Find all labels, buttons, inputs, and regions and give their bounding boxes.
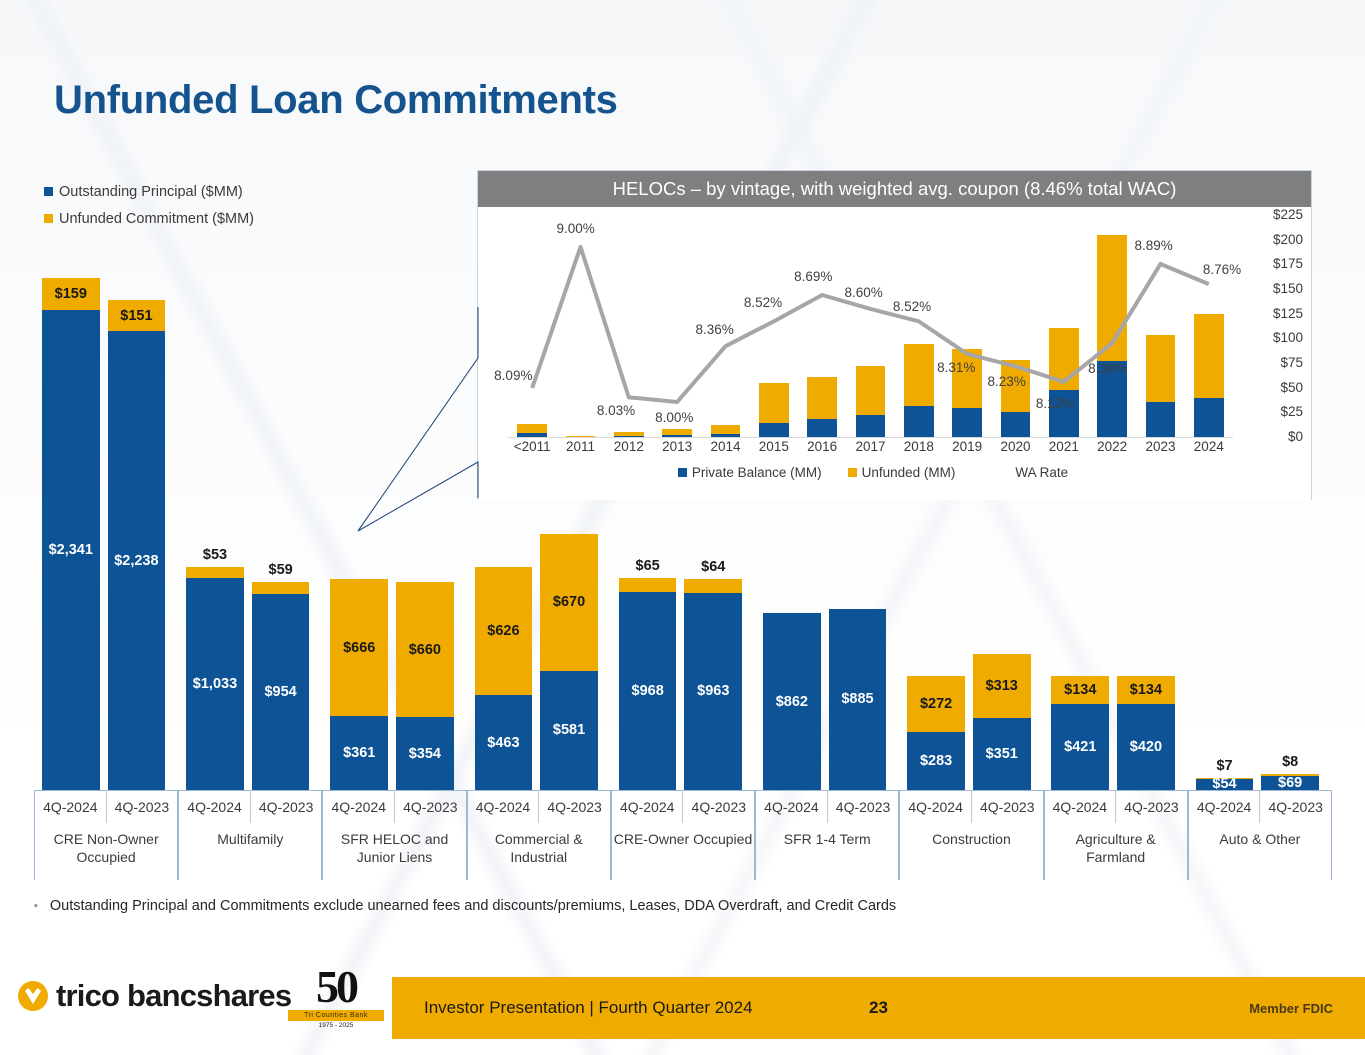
anniversary-years: 1975 - 2025	[288, 1022, 384, 1029]
wa-rate-label: 8.69%	[794, 269, 832, 284]
heloc-y-tick: $50	[1280, 380, 1303, 395]
heloc-x-tick: 2017	[846, 439, 894, 454]
wa-rate-label: 8.52%	[893, 299, 931, 314]
bar-label-outstanding: $361	[343, 745, 375, 761]
wa-rate-label: 8.60%	[845, 285, 883, 300]
stacked-bar[interactable]: $313$351	[973, 654, 1031, 790]
slide-footer: trico bancshares 50 Tri Counties Bank 19…	[0, 960, 1365, 1055]
bar-label-unfunded: $134	[1064, 682, 1096, 698]
footer-bar: Investor Presentation | Fourth Quarter 2…	[392, 977, 1365, 1039]
slide-root: Unfunded Loan Commitments Outstanding Pr…	[0, 0, 1365, 1055]
footer-page-number: 23	[392, 998, 1365, 1018]
bar-label-unfunded: $159	[55, 286, 87, 302]
bar-segment-unfunded: $134	[1117, 676, 1175, 703]
bar-label-outstanding: $1,033	[193, 676, 237, 692]
axis-period-label: 4Q-2024	[756, 791, 828, 823]
bar-label-unfunded: $8	[1261, 754, 1319, 770]
stacked-bar[interactable]: $862	[763, 613, 821, 790]
wa-rate-label: 8.36%	[696, 322, 734, 337]
bar-segment-unfunded: $313	[973, 654, 1031, 718]
bar-segment-unfunded: $134	[1051, 676, 1109, 703]
bar-segment-outstanding: $1,033	[186, 578, 244, 790]
wa-rate-label: 8.09%	[494, 368, 532, 383]
wa-rate-label: 8.13%	[1036, 396, 1074, 411]
heloc-y-tick: $125	[1273, 306, 1303, 321]
heloc-legend-label-private: Private Balance (MM)	[692, 465, 822, 480]
stacked-bar[interactable]: $626$463	[475, 567, 533, 790]
bar-label-unfunded: $65	[619, 558, 677, 574]
stacked-bar[interactable]: $151$2,238	[108, 300, 166, 790]
bar-label-outstanding: $954	[264, 684, 296, 700]
heloc-x-tick: 2012	[605, 439, 653, 454]
bar-label-outstanding: $69	[1278, 775, 1302, 791]
axis-category-label: Auto & Other	[1189, 823, 1331, 881]
stacked-bar[interactable]: $8$69	[1261, 774, 1319, 790]
wa-rate-label: 8.52%	[744, 295, 782, 310]
bar-segment-outstanding: $54	[1196, 779, 1254, 790]
anniversary-badge: 50 Tri Counties Bank 1975 - 2025	[288, 965, 384, 1043]
bar-label-outstanding: $2,341	[49, 542, 93, 558]
axis-category-label: Construction	[900, 823, 1042, 881]
bar-label-unfunded: $313	[986, 678, 1018, 694]
heloc-legend: Private Balance (MM) Unfunded (MM) WA Ra…	[478, 465, 1268, 480]
axis-group-6: 4Q-20244Q-2023SFR 1-4 Term	[755, 790, 899, 880]
stacked-bar[interactable]: $134$421	[1051, 676, 1109, 790]
bar-label-unfunded: $64	[684, 559, 742, 575]
heloc-x-tick: 2022	[1088, 439, 1136, 454]
heloc-x-tick: 2018	[895, 439, 943, 454]
stacked-bar[interactable]: $670$581	[540, 534, 598, 790]
axis-period-label: 4Q-2024	[1045, 791, 1117, 823]
axis-group-8: 4Q-20244Q-2023Agriculture & Farmland	[1044, 790, 1188, 880]
heloc-vintage-panel: HELOCs – by vintage, with weighted avg. …	[477, 170, 1312, 500]
heloc-x-tick: 2019	[943, 439, 991, 454]
footnote-bullet-icon: ▪	[34, 898, 38, 915]
company-logo-text: trico bancshares	[56, 978, 291, 1014]
axis-period-label: 4Q-2023	[1260, 791, 1331, 823]
heloc-x-tick: 2024	[1185, 439, 1233, 454]
axis-period-label: 4Q-2024	[323, 791, 395, 823]
axis-period-label: 4Q-2024	[179, 791, 251, 823]
bar-label-unfunded: $670	[553, 594, 585, 610]
bar-label-unfunded: $7	[1196, 758, 1254, 774]
axis-period-label: 4Q-2024	[468, 791, 540, 823]
stacked-bar[interactable]: $660$354	[396, 582, 454, 790]
bar-segment-outstanding: $463	[475, 695, 533, 790]
bar-label-unfunded: $660	[409, 642, 441, 658]
bar-segment-outstanding: $69	[1261, 776, 1319, 790]
bar-segment-unfunded: $272	[907, 676, 965, 732]
stacked-bar[interactable]: $59$954	[252, 582, 310, 790]
stacked-bar[interactable]: $134$420	[1117, 676, 1175, 790]
heloc-x-tick: 2023	[1136, 439, 1184, 454]
anniversary-number: 50	[288, 965, 384, 1009]
heloc-x-tick: 2015	[750, 439, 798, 454]
bar-segment-outstanding: $954	[252, 594, 310, 790]
company-logo: trico bancshares	[18, 978, 291, 1014]
stacked-bar[interactable]: $159$2,341	[42, 278, 100, 790]
footnote-text: Outstanding Principal and Commitments ex…	[50, 898, 896, 914]
axis-category-label: CRE Non-Owner Occupied	[35, 823, 177, 881]
axis-period-label: 4Q-2023	[107, 791, 178, 823]
trico-flower-icon	[18, 981, 48, 1011]
heloc-x-tick: 2021	[1040, 439, 1088, 454]
bar-segment-unfunded: $64	[684, 579, 742, 592]
bar-label-outstanding: $351	[986, 746, 1018, 762]
legend-swatch-blue	[44, 187, 53, 196]
heloc-y-tick: $175	[1273, 256, 1303, 271]
axis-period-label: 4Q-2023	[1116, 791, 1187, 823]
axis-group-5: 4Q-20244Q-2023CRE-Owner Occupied	[611, 790, 755, 880]
bar-segment-outstanding: $351	[973, 718, 1031, 790]
axis-category-label: SFR HELOC and Junior Liens	[323, 823, 465, 881]
stacked-bar[interactable]: $885	[829, 609, 887, 790]
axis-category-label: Commercial & Industrial	[468, 823, 610, 881]
axis-group-4: 4Q-20244Q-2023Commercial & Industrial	[467, 790, 611, 880]
heloc-x-tick: 2011	[556, 439, 604, 454]
heloc-y-tick: $25	[1280, 404, 1303, 419]
heloc-x-tick: 2014	[701, 439, 749, 454]
heloc-panel-body: 8.09%9.00%8.03%8.00%8.36%8.52%8.69%8.60%…	[478, 207, 1311, 500]
bar-segment-outstanding: $581	[540, 671, 598, 790]
heloc-y-axis: $0$25$50$75$100$125$150$175$200$225	[1243, 207, 1303, 445]
bar-label-outstanding: $968	[632, 683, 664, 699]
axis-period-label: 4Q-2024	[612, 791, 684, 823]
axis-period-label: 4Q-2023	[251, 791, 322, 823]
heloc-legend-label-warate: WA Rate	[1015, 465, 1068, 480]
bar-segment-unfunded: $670	[540, 534, 598, 671]
heloc-x-tick: 2020	[991, 439, 1039, 454]
bar-segment-unfunded: $626	[475, 567, 533, 695]
bar-segment-outstanding: $885	[829, 609, 887, 790]
bar-label-outstanding: $283	[920, 753, 952, 769]
heloc-x-tick: 2016	[798, 439, 846, 454]
bar-segment-unfunded: $151	[108, 300, 166, 331]
bar-segment-outstanding: $2,341	[42, 310, 100, 790]
axis-period-label: 4Q-2024	[900, 791, 972, 823]
bar-segment-outstanding: $354	[396, 717, 454, 790]
bar-label-unfunded: $626	[487, 623, 519, 639]
heloc-legend-label-unfunded: Unfunded (MM)	[862, 465, 956, 480]
axis-group-1: 4Q-20244Q-2023CRE Non-Owner Occupied	[34, 790, 178, 880]
axis-category-label: CRE-Owner Occupied	[612, 823, 754, 881]
bar-label-unfunded: $134	[1130, 682, 1162, 698]
wa-rate-label: 8.03%	[597, 403, 635, 418]
heloc-y-tick: $200	[1273, 232, 1303, 247]
bar-segment-outstanding: $2,238	[108, 331, 166, 790]
heloc-baseline	[508, 437, 1233, 438]
heloc-y-tick: $75	[1280, 355, 1303, 370]
stacked-bar[interactable]: $65$968	[619, 578, 677, 790]
bar-label-outstanding: $885	[841, 691, 873, 707]
bar-segment-unfunded: $159	[42, 278, 100, 311]
axis-period-label: 4Q-2023	[972, 791, 1043, 823]
bar-group: $666$361$660$354	[322, 215, 466, 790]
bar-segment-unfunded: $59	[252, 582, 310, 594]
bar-segment-outstanding: $421	[1051, 704, 1109, 790]
heloc-x-axis: <201120112012201320142015201620172018201…	[508, 439, 1233, 461]
bar-segment-unfunded: $53	[186, 567, 244, 578]
bar-label-unfunded: $59	[252, 562, 310, 578]
stacked-bar[interactable]: $272$283	[907, 676, 965, 790]
heloc-plot-area: 8.09%9.00%8.03%8.00%8.36%8.52%8.69%8.60%…	[508, 215, 1233, 437]
wa-rate-label: 8.76%	[1203, 262, 1241, 277]
heloc-y-tick: $100	[1273, 330, 1303, 345]
axis-period-label: 4Q-2023	[683, 791, 754, 823]
main-chart-axis: 4Q-20244Q-2023CRE Non-Owner Occupied4Q-2…	[34, 790, 1332, 880]
wa-rate-label: 8.38%	[1088, 361, 1126, 376]
bar-segment-outstanding: $283	[907, 732, 965, 790]
stacked-bar[interactable]: $7$54	[1196, 778, 1254, 790]
stacked-bar[interactable]: $53$1,033	[186, 567, 244, 790]
footnote: ▪ Outstanding Principal and Commitments …	[34, 898, 896, 915]
axis-period-label: 4Q-2023	[395, 791, 466, 823]
bar-label-unfunded: $53	[186, 547, 244, 563]
bar-label-outstanding: $581	[553, 722, 585, 738]
bar-segment-unfunded: $666	[330, 579, 388, 716]
heloc-y-tick: $0	[1288, 429, 1303, 444]
bar-label-unfunded: $272	[920, 696, 952, 712]
bar-segment-unfunded: $65	[619, 578, 677, 591]
axis-group-7: 4Q-20244Q-2023Construction	[899, 790, 1043, 880]
bar-label-outstanding: $463	[487, 735, 519, 751]
bar-segment-outstanding: $963	[684, 593, 742, 790]
bar-label-outstanding: $354	[409, 746, 441, 762]
stacked-bar[interactable]: $64$963	[684, 579, 742, 790]
wa-rate-label: 8.00%	[655, 410, 693, 425]
bar-segment-unfunded: $660	[396, 582, 454, 717]
heloc-y-tick: $150	[1273, 281, 1303, 296]
bar-segment-outstanding: $361	[330, 716, 388, 790]
axis-period-label: 4Q-2024	[1189, 791, 1261, 823]
bar-label-unfunded: $151	[120, 308, 152, 324]
wa-rate-label: 8.31%	[937, 360, 975, 375]
heloc-swatch-blue	[678, 468, 687, 477]
bar-label-outstanding: $421	[1064, 739, 1096, 755]
axis-period-label: 4Q-2023	[539, 791, 610, 823]
bar-segment-outstanding: $862	[763, 613, 821, 790]
axis-category-label: SFR 1-4 Term	[756, 823, 898, 881]
axis-period-label: 4Q-2023	[828, 791, 899, 823]
heloc-x-tick: 2013	[653, 439, 701, 454]
bar-group: $53$1,033$59$954	[178, 215, 322, 790]
axis-category-label: Multifamily	[179, 823, 321, 881]
bar-label-outstanding: $963	[697, 683, 729, 699]
bar-group: $159$2,341$151$2,238	[34, 215, 178, 790]
heloc-legend-unfunded: Unfunded (MM)	[848, 465, 956, 480]
heloc-panel-title: HELOCs – by vintage, with weighted avg. …	[478, 171, 1311, 207]
wa-rate-label: 8.23%	[988, 374, 1026, 389]
heloc-legend-private: Private Balance (MM)	[678, 465, 822, 480]
heloc-swatch-gold	[848, 468, 857, 477]
footer-fdic-label: Member FDIC	[1249, 1001, 1333, 1016]
wa-rate-label: 8.89%	[1135, 238, 1173, 253]
bar-segment-outstanding: $968	[619, 592, 677, 790]
bar-label-outstanding: $862	[776, 694, 808, 710]
bar-label-unfunded: $666	[343, 640, 375, 656]
bar-segment-outstanding: $420	[1117, 704, 1175, 790]
heloc-legend-warate: WA Rate	[1015, 465, 1068, 480]
heloc-x-tick: <2011	[508, 439, 556, 454]
axis-group-2: 4Q-20244Q-2023Multifamily	[178, 790, 322, 880]
axis-period-label: 4Q-2024	[35, 791, 107, 823]
stacked-bar[interactable]: $666$361	[330, 579, 388, 790]
bar-label-outstanding: $420	[1130, 739, 1162, 755]
legend-item-outstanding: Outstanding Principal ($MM)	[44, 178, 254, 205]
axis-category-label: Agriculture & Farmland	[1045, 823, 1187, 881]
heloc-y-tick: $225	[1273, 207, 1303, 222]
page-title: Unfunded Loan Commitments	[54, 78, 618, 123]
bar-label-outstanding: $2,238	[114, 553, 158, 569]
wa-rate-label: 9.00%	[557, 221, 595, 236]
anniversary-bank-name: Tri Counties Bank	[288, 1010, 384, 1021]
axis-group-9: 4Q-20244Q-2023Auto & Other	[1188, 790, 1332, 880]
axis-group-3: 4Q-20244Q-2023SFR HELOC and Junior Liens	[322, 790, 466, 880]
legend-label-outstanding: Outstanding Principal ($MM)	[59, 184, 243, 200]
